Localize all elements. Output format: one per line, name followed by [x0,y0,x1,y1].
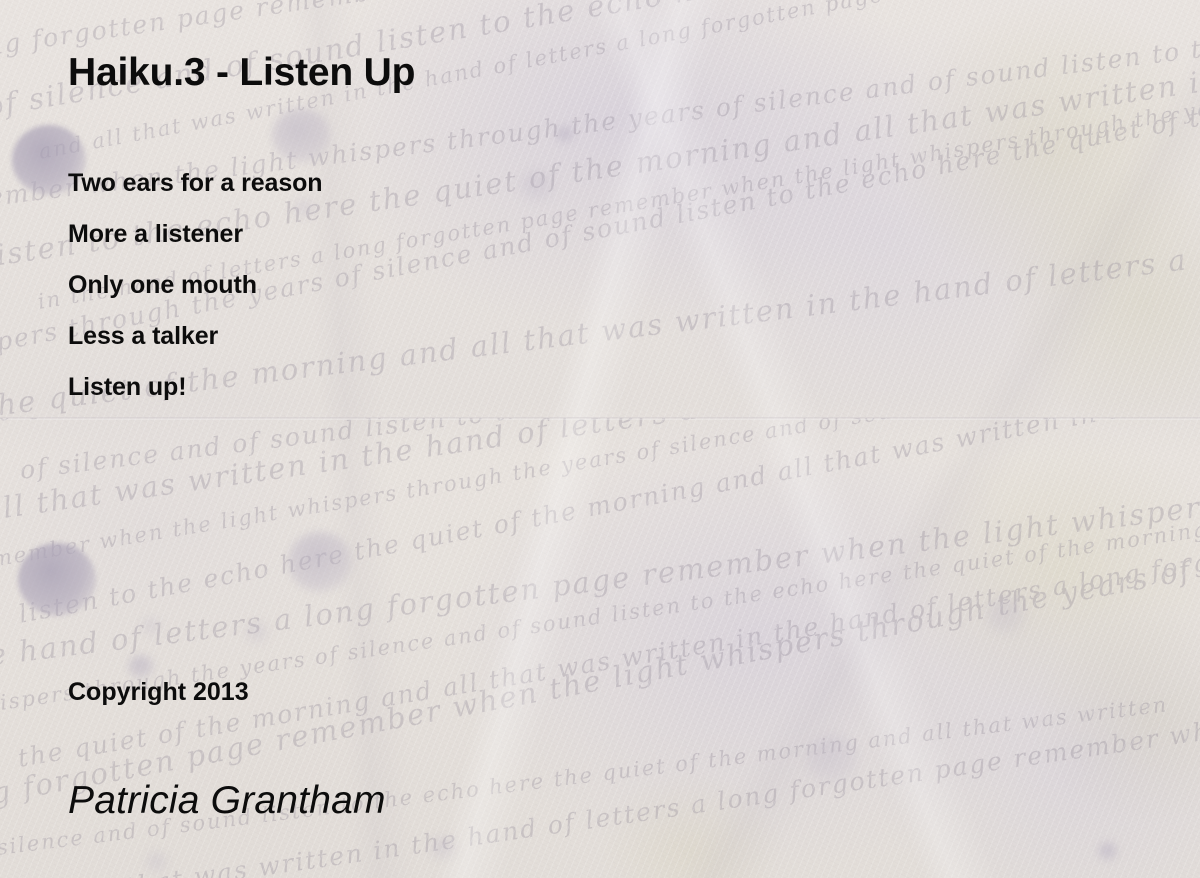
poem-stanza: Two ears for a reason More a listener On… [68,158,322,413]
poem-line: Two ears for a reason [68,158,322,209]
poem-line: More a listener [68,209,322,260]
poem-text-block: Haiku.3 - Listen Up Two ears for a reaso… [0,0,1200,878]
author-signature: Patricia Grantham [68,779,386,823]
page-title: Haiku.3 - Listen Up [68,51,415,95]
poem-line: Less a talker [68,311,322,362]
poem-line: Only one mouth [68,260,322,311]
poem-line: Listen up! [68,362,322,413]
copyright-notice: Copyright 2013 [68,678,249,707]
poem-image-canvas: the quiet of the morning and all that wa… [0,0,1200,878]
